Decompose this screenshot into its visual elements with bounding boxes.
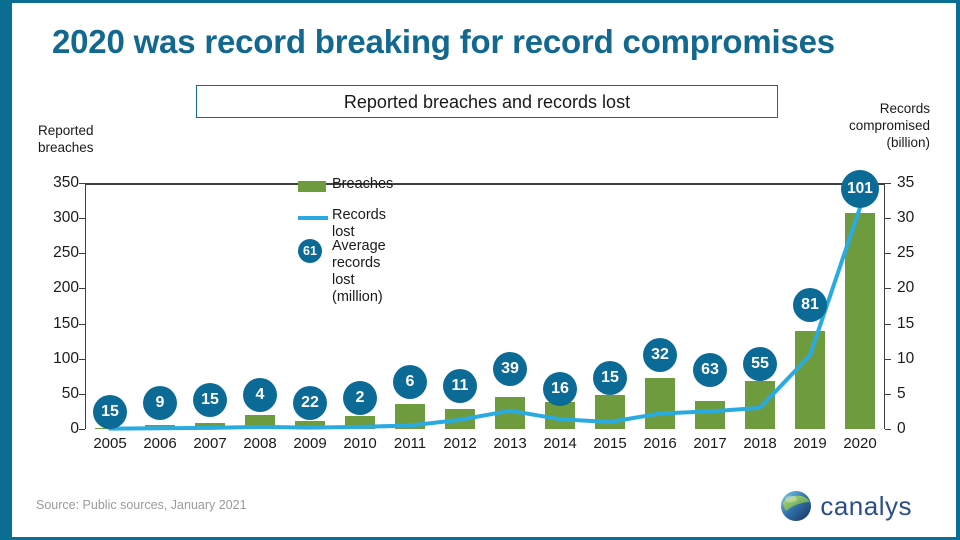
y2-tick	[885, 324, 891, 325]
x-tick-label: 2018	[735, 435, 785, 452]
y-tick-label: 350	[19, 175, 79, 191]
bubble-label: 63	[693, 353, 727, 387]
top-accent-line	[12, 0, 956, 3]
y-tick-label: 0	[19, 421, 79, 437]
globe-icon	[779, 489, 813, 523]
right-accent-bar	[956, 0, 960, 540]
x-tick-label: 2008	[235, 435, 285, 452]
y-tick-label: 50	[19, 386, 79, 402]
legend-bar-swatch	[298, 181, 326, 192]
x-tick-label: 2016	[635, 435, 685, 452]
y2-tick	[885, 288, 891, 289]
subtitle-box: Reported breaches and records lost	[196, 85, 778, 118]
legend-line-swatch	[298, 216, 328, 220]
x-tick-label: 2009	[285, 435, 335, 452]
left-axis-caption: Reportedbreaches	[38, 122, 148, 156]
legend-label: Breaches	[332, 176, 393, 193]
legend-label: Average records lost (million)	[332, 238, 386, 306]
x-tick-label: 2014	[535, 435, 585, 452]
bubble-label: 81	[793, 288, 827, 322]
bubble-label: 11	[443, 369, 477, 403]
bubble-label: 55	[743, 347, 777, 381]
y2-tick-label: 30	[897, 210, 947, 226]
bubble-label: 15	[93, 395, 127, 429]
legend-bubble-swatch: 61	[298, 239, 322, 263]
bubble-label: 6	[393, 365, 427, 399]
bubble-label: 16	[543, 372, 577, 406]
y-tick-label: 150	[19, 316, 79, 332]
logo-wordmark: canalys	[820, 493, 912, 519]
right-axis-caption: Recordscompromised(billion)	[800, 100, 930, 151]
y-tick-label: 300	[19, 210, 79, 226]
y2-tick-label: 15	[897, 316, 947, 332]
x-tick-label: 2006	[135, 435, 185, 452]
source-note: Source: Public sources, January 2021	[36, 498, 247, 512]
y2-tick-label: 25	[897, 245, 947, 261]
y2-tick	[885, 218, 891, 219]
y2-tick	[885, 394, 891, 395]
y2-tick-label: 35	[897, 175, 947, 191]
y2-tick	[885, 359, 891, 360]
y-tick-label: 200	[19, 280, 79, 296]
y2-tick	[885, 429, 891, 430]
y-tick	[79, 429, 85, 430]
y2-tick-label: 20	[897, 280, 947, 296]
y2-tick	[885, 183, 891, 184]
bubble-label: 101	[841, 170, 879, 208]
x-tick-label: 2007	[185, 435, 235, 452]
chart-subtitle: Reported breaches and records lost	[197, 86, 777, 119]
bubble-label: 32	[643, 338, 677, 372]
y2-tick-label: 0	[897, 421, 947, 437]
x-tick-label: 2010	[335, 435, 385, 452]
x-tick-label: 2017	[685, 435, 735, 452]
x-tick-label: 2012	[435, 435, 485, 452]
page-title: 2020 was record breaking for record comp…	[52, 18, 932, 66]
bubble-label: 15	[593, 361, 627, 395]
chart-plot-area: 050100150200250300350 05101520253035 159…	[85, 183, 885, 429]
canalys-logo: canalys	[779, 489, 912, 523]
x-tick-label: 2005	[85, 435, 135, 452]
x-tick-label: 2013	[485, 435, 535, 452]
x-tick-label: 2019	[785, 435, 835, 452]
y2-tick	[885, 253, 891, 254]
bubble-label: 2	[343, 381, 377, 415]
x-tick-label: 2020	[835, 435, 885, 452]
x-tick-label: 2011	[385, 435, 435, 452]
y-tick-label: 250	[19, 245, 79, 261]
bubble-label: 9	[143, 386, 177, 420]
left-accent-bar	[0, 0, 12, 540]
bubble-label: 4	[243, 378, 277, 412]
bubble-label: 15	[193, 383, 227, 417]
x-tick-label: 2015	[585, 435, 635, 452]
y2-tick-label: 10	[897, 351, 947, 367]
y2-tick-label: 5	[897, 386, 947, 402]
bubble-label: 39	[493, 352, 527, 386]
slide-canvas: 2020 was record breaking for record comp…	[0, 0, 960, 540]
legend-label: Records lost	[332, 207, 386, 241]
y-tick-label: 100	[19, 351, 79, 367]
bubble-label: 22	[293, 386, 327, 420]
